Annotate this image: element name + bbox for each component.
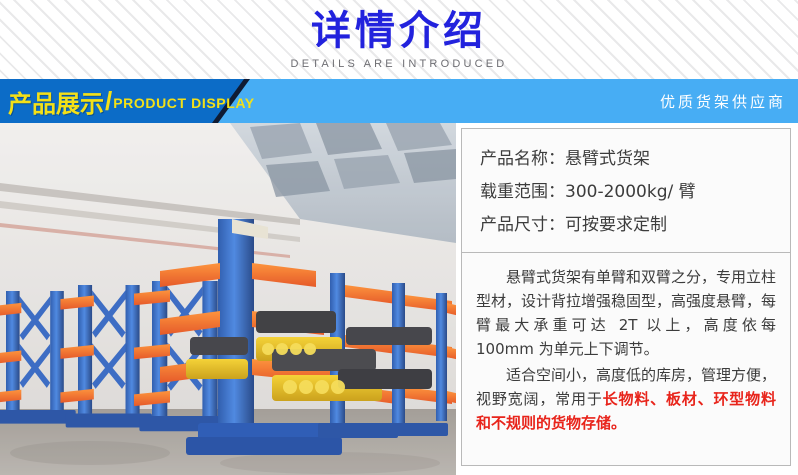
product-photo [0,123,456,475]
ribbon-label-cn: 产品展示 [8,84,104,119]
ribbon-label-en: PRODUCT DISPLAY [113,95,255,111]
top-banner: 详情介绍 DETAILS ARE INTRODUCED [0,0,798,79]
page-subtitle: DETAILS ARE INTRODUCED [0,57,798,71]
warehouse-racking-illustration [0,123,456,475]
supplier-slogan: 优质货架供应商 [660,79,786,123]
spec-row-size: 产品尺寸：可按要求定制 [480,209,790,242]
spec-row-name: 产品名称：悬臂式货架 [480,143,790,176]
section-header-bar: 产品展示 / PRODUCT DISPLAY 优质货架供应商 [0,79,798,123]
ribbon-slash: / [105,86,112,117]
product-detail-page: 详情介绍 DETAILS ARE INTRODUCED 产品展示 / PRODU… [0,0,798,475]
description-paragraph-2: 适合空间小，高度低的库房，管理方便，视野宽阔，常用于长物料、板材、环型物料和不规… [476,363,776,435]
product-spec-list: 产品名称：悬臂式货架 载重范围：300-2000kg/ 臂 产品尺寸：可按要求定… [462,129,790,253]
ribbon-label-group: 产品展示 / PRODUCT DISPLAY [8,79,255,123]
page-title: 详情介绍 [0,9,798,53]
spec-row-load: 载重范围：300-2000kg/ 臂 [480,176,790,209]
product-description: 悬臂式货架有单臂和双臂之分，专用立柱型材，设计背拉增强稳固型，高强度悬臂，每臂最… [462,253,790,435]
product-info-panel: 产品名称：悬臂式货架 载重范围：300-2000kg/ 臂 产品尺寸：可按要求定… [461,128,791,466]
description-paragraph-1: 悬臂式货架有单臂和双臂之分，专用立柱型材，设计背拉增强稳固型，高强度悬臂，每臂最… [476,265,776,361]
